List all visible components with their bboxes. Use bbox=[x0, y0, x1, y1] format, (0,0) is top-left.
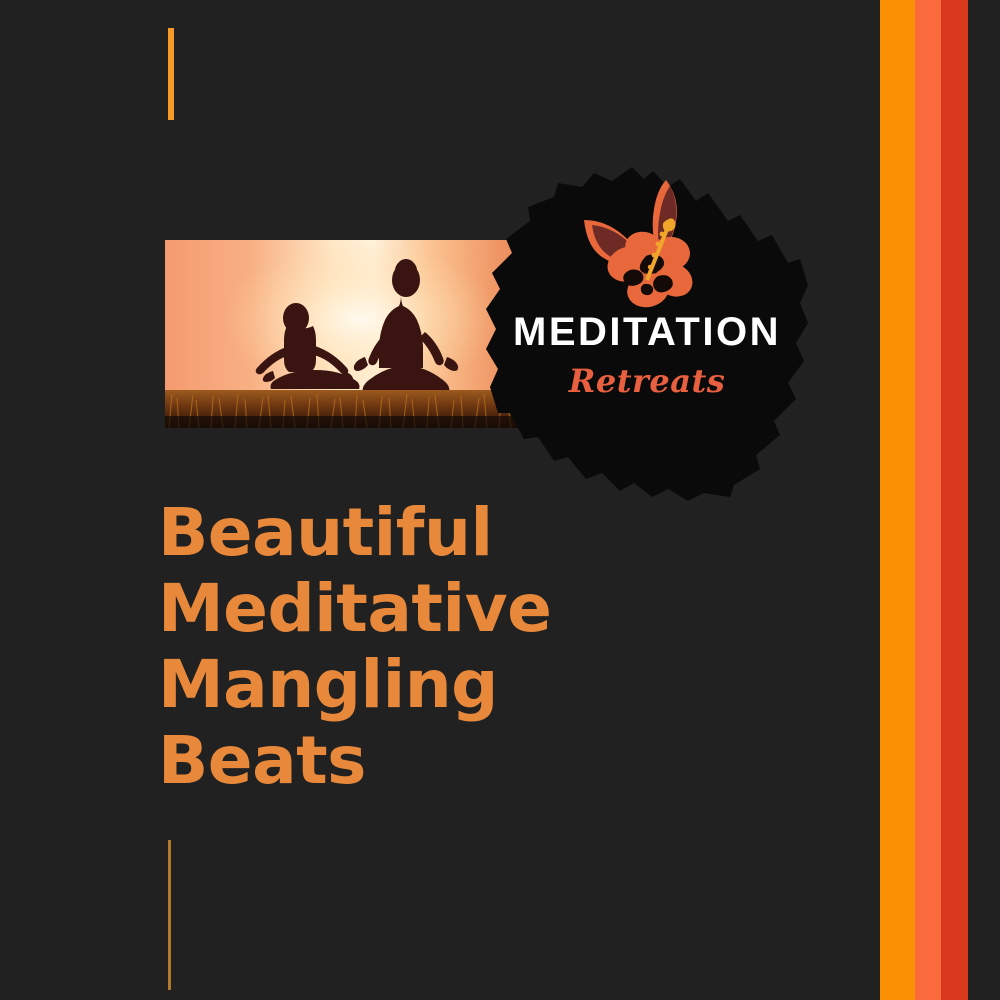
badge-subtitle: Retreats bbox=[482, 365, 812, 397]
stripe-orange bbox=[880, 0, 915, 1000]
badge-title: MEDITATION bbox=[482, 312, 812, 352]
headline-line-2: Meditative bbox=[158, 571, 718, 647]
page-title: Beautiful Meditative Mangling Beats bbox=[158, 495, 718, 799]
headline-line-1: Beautiful bbox=[158, 495, 718, 571]
poster-canvas: MEDITATION Retreats Beautiful Meditative… bbox=[0, 0, 1000, 1000]
headline-line-4: Beats bbox=[158, 723, 718, 799]
accent-rule-top bbox=[168, 28, 174, 120]
accent-rule-bottom bbox=[168, 840, 171, 990]
hibiscus-butterfly-icon bbox=[570, 168, 720, 316]
meditation-retreats-badge: MEDITATION Retreats bbox=[482, 163, 812, 501]
headline-line-3: Mangling bbox=[158, 647, 718, 723]
stripe-brick bbox=[941, 0, 968, 1000]
stripe-coral bbox=[915, 0, 941, 1000]
